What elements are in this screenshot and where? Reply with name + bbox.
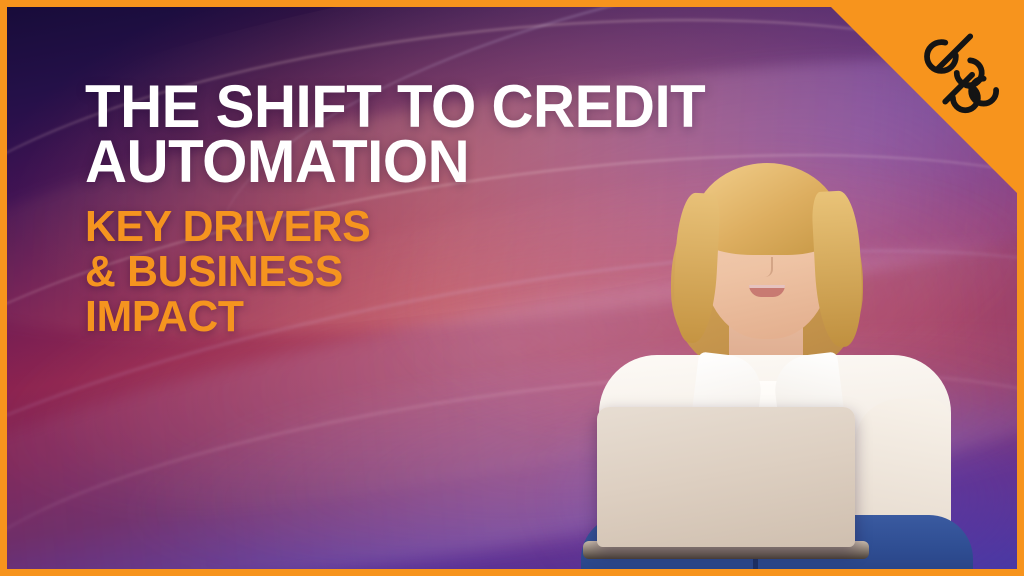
frame-border-top <box>0 0 1024 7</box>
video-thumbnail: THE SHIFT TO CREDIT AUTOMATION KEY DRIVE… <box>0 0 1024 576</box>
subtitle-line-3: IMPACT <box>85 295 851 340</box>
subtitle-line-2: & BUSINESS <box>85 250 851 295</box>
frame-border-right <box>1017 0 1024 576</box>
laptop-lid <box>597 407 855 547</box>
dcp-logo-icon <box>903 21 999 117</box>
title-line-1: THE SHIFT TO CREDIT <box>85 79 851 134</box>
page-subtitle: KEY DRIVERS & BUSINESS IMPACT <box>85 205 851 340</box>
page-title: THE SHIFT TO CREDIT AUTOMATION <box>85 79 851 189</box>
subtitle-line-1: KEY DRIVERS <box>85 205 851 250</box>
frame-border-left <box>0 0 7 576</box>
background-artwork: THE SHIFT TO CREDIT AUTOMATION KEY DRIVE… <box>7 7 1017 569</box>
headline-block: THE SHIFT TO CREDIT AUTOMATION KEY DRIVE… <box>85 79 875 340</box>
frame-border-bottom <box>0 569 1024 576</box>
title-line-2: AUTOMATION <box>85 134 851 189</box>
